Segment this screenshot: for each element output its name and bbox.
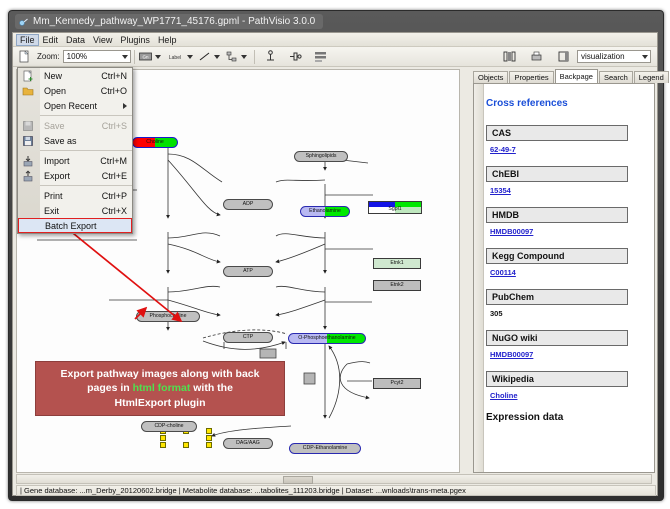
menu-item-print[interactable]: Print Ctrl+P [18, 188, 132, 203]
new-document-icon [22, 70, 34, 82]
menu-item-label: Export [44, 171, 70, 181]
menu-item-batch-export[interactable]: Batch Export [18, 218, 132, 233]
menu-item-save-as[interactable]: Save as [18, 133, 132, 148]
menu-item-label: Open [44, 86, 66, 96]
menu-separator [40, 185, 132, 186]
application-window: Mm_Kennedy_pathway_WP1771_45176.gpml - P… [8, 10, 664, 501]
menu-item-accel: Ctrl+P [102, 191, 127, 201]
open-folder-icon [22, 85, 34, 97]
menu-item-export[interactable]: Export Ctrl+E [18, 168, 132, 183]
menu-item-label: New [44, 71, 62, 81]
file-menu-popup[interactable]: New Ctrl+N Open Ctrl+O Open Recent Save [17, 67, 133, 234]
menu-item-open-recent[interactable]: Open Recent [18, 98, 132, 113]
menu-item-label: Import [44, 156, 70, 166]
menu-item-label: Open Recent [44, 101, 97, 111]
menu-item-import[interactable]: Import Ctrl+M [18, 153, 132, 168]
title-bar: Mm_Kennedy_pathway_WP1771_45176.gpml - P… [9, 11, 663, 32]
menu-item-label: Save [44, 121, 65, 131]
menu-item-label: Save as [44, 136, 77, 146]
app-root: Mm_Kennedy_pathway_WP1771_45176.gpml - P… [0, 0, 670, 509]
menu-item-label: Print [44, 191, 63, 201]
menu-item-accel: Ctrl+N [101, 71, 127, 81]
menu-item-new[interactable]: New Ctrl+N [18, 68, 132, 83]
pathvisio-icon [19, 17, 29, 27]
menu-item-accel: Ctrl+X [102, 206, 127, 216]
menu-item-accel: Ctrl+M [100, 156, 127, 166]
menu-item-save: Save Ctrl+S [18, 118, 132, 133]
save-as-icon [22, 135, 34, 147]
menu-separator [40, 150, 132, 151]
import-icon [22, 155, 34, 167]
menu-item-label: Batch Export [45, 221, 97, 231]
menu-item-exit[interactable]: Exit Ctrl+X [18, 203, 132, 218]
menu-separator [40, 115, 132, 116]
menu-item-open[interactable]: Open Ctrl+O [18, 83, 132, 98]
submenu-arrow-icon [123, 103, 127, 109]
window-title-text: Mm_Kennedy_pathway_WP1771_45176.gpml - P… [33, 16, 315, 27]
window-title: Mm_Kennedy_pathway_WP1771_45176.gpml - P… [15, 14, 323, 29]
menu-item-accel: Ctrl+S [102, 121, 127, 131]
client-area: File Edit Data View Plugins Help Zoom: 1… [12, 32, 658, 496]
save-disk-icon [22, 120, 34, 132]
export-icon [22, 170, 34, 182]
menu-item-accel: Ctrl+E [102, 171, 127, 181]
menu-item-accel: Ctrl+O [101, 86, 127, 96]
menu-item-label: Exit [44, 206, 59, 216]
